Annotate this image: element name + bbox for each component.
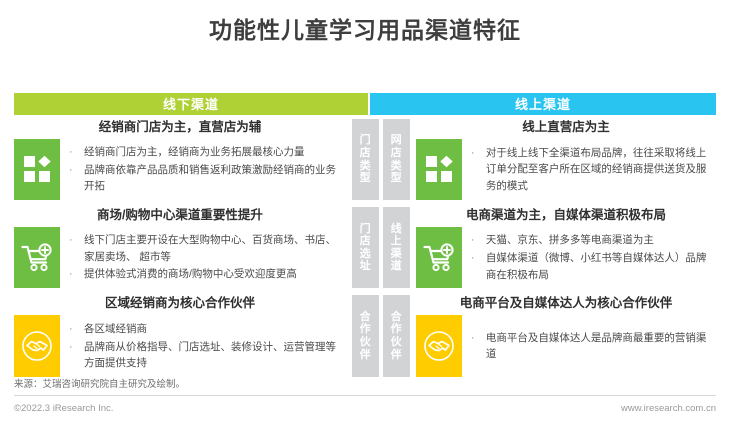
channel-comparison-board: 线下渠道 线上渠道 经销商门店为主，直营店为辅	[14, 93, 716, 367]
panel-body: · 对于线上线下全渠道布局品牌，往往采取将线上订单分配至客户所在区域的经销商提供…	[416, 139, 716, 201]
bullet-dot-icon: ·	[69, 321, 84, 338]
bullet-list: · 线下门店主要开设在大型购物中心、百货商场、书店、家居卖场、 超市等 · 提供…	[60, 227, 346, 289]
list-item: · 自媒体渠道（微博、小红书等自媒体达人）品牌商在积极布局	[471, 250, 710, 283]
bullet-dot-icon: ·	[69, 144, 84, 161]
offline-channel-header: 线下渠道	[14, 93, 368, 115]
vertical-label-text: 网店类型	[390, 134, 402, 185]
panel-body: · 经销商门店为主，经销商为业务拓展最核心力量 · 品牌商依靠产品品质和销售返利…	[14, 139, 346, 201]
panel-body: · 各区域经销商 · 品牌商从价格指导、门店选址、装修设计、运营管理等方面提供支…	[14, 315, 346, 377]
panel-body: · 线下门店主要开设在大型购物中心、百货商场、书店、家居卖场、 超市等 · 提供…	[14, 227, 346, 289]
bullet-list: · 对于线上线下全渠道布局品牌，往往采取将线上订单分配至客户所在区域的经销商提供…	[462, 139, 716, 201]
bullet-text: 电商平台及自媒体达人是品牌商最重要的营销渠道	[486, 330, 710, 363]
vertical-label-text: 合作伙伴	[390, 311, 402, 362]
bullet-list: · 经销商门店为主，经销商为业务拓展最核心力量 · 品牌商依靠产品品质和销售返利…	[60, 139, 346, 201]
bullet-dot-icon: ·	[69, 162, 84, 195]
bullet-dot-icon: ·	[471, 145, 486, 194]
list-item: · 线下门店主要开设在大型购物中心、百货商场、书店、家居卖场、 超市等	[69, 232, 340, 265]
panel-title: 经销商门店为主，直营店为辅	[14, 119, 346, 139]
bullet-text: 天猫、京东、拼多多等电商渠道为主	[486, 232, 710, 249]
bullet-dot-icon: ·	[471, 250, 486, 283]
vertical-label-text: 线上渠道	[390, 223, 402, 274]
comparison-row: 区域经销商为核心合作伙伴 · 各区域经销商	[14, 295, 716, 376]
bullet-text: 经销商门店为主，经销商为业务拓展最核心力量	[84, 144, 340, 161]
four-squares-icon	[14, 139, 60, 201]
bullet-dot-icon: ·	[69, 339, 84, 372]
vertical-label-offline-store-location: 门店选址	[352, 207, 379, 288]
panel-title: 商场/购物中心渠道重要性提升	[14, 207, 346, 227]
vertical-label-text: 合作伙伴	[359, 311, 371, 362]
board-header-row: 线下渠道 线上渠道	[14, 93, 716, 115]
page-title: 功能性儿童学习用品渠道特征	[0, 0, 730, 45]
handshake-icon	[14, 315, 60, 377]
bullet-text: 对于线上线下全渠道布局品牌，往往采取将线上订单分配至客户所在区域的经销商提供送货…	[486, 145, 710, 194]
bullet-dot-icon: ·	[471, 330, 486, 363]
footer-bottom-row: ©2022.3 iResearch Inc. www.iresearch.com…	[14, 396, 716, 414]
online-channel-header: 线上渠道	[370, 93, 716, 115]
offline-store-type-panel: 经销商门店为主，直营店为辅 · 经销商门店为主，经销商为业务拓	[14, 119, 346, 200]
copyright-text: ©2022.3 iResearch Inc.	[14, 403, 113, 414]
footer: 来源：艾瑞咨询研究院自主研究及绘制。 ©2022.3 iResearch Inc…	[14, 376, 716, 414]
vertical-label-online-channel: 线上渠道	[383, 207, 410, 288]
bullet-list: · 各区域经销商 · 品牌商从价格指导、门店选址、装修设计、运营管理等方面提供支…	[60, 315, 346, 377]
vertical-label-offline-partners: 合作伙伴	[352, 295, 379, 376]
bullet-dot-icon: ·	[69, 232, 84, 265]
bullet-list: · 天猫、京东、拼多多等电商渠道为主 · 自媒体渠道（微博、小红书等自媒体达人）…	[462, 227, 716, 289]
online-channel-panel: 电商渠道为主，自媒体渠道积极布局	[416, 207, 716, 288]
panel-title: 电商渠道为主，自媒体渠道积极布局	[416, 207, 716, 227]
vertical-label-online-store-type: 网店类型	[383, 119, 410, 200]
panel-title: 区域经销商为核心合作伙伴	[14, 295, 346, 315]
vertical-label-text: 门店类型	[359, 134, 371, 185]
bullet-dot-icon: ·	[69, 266, 84, 283]
list-item: · 品牌商从价格指导、门店选址、装修设计、运营管理等方面提供支持	[69, 339, 340, 372]
offline-store-location-panel: 商场/购物中心渠道重要性提升	[14, 207, 346, 288]
list-item: · 经销商门店为主，经销商为业务拓展最核心力量	[69, 144, 340, 161]
bullet-text: 提供体验式消费的商场/购物中心受欢迎度更高	[84, 266, 340, 283]
vertical-label-text: 门店选址	[359, 223, 371, 274]
bullet-text: 自媒体渠道（微博、小红书等自媒体达人）品牌商在积极布局	[486, 250, 710, 283]
bullet-text: 品牌商依靠产品品质和销售返利政策激励经销商的业务开拓	[84, 162, 340, 195]
website-link[interactable]: www.iresearch.com.cn	[621, 403, 716, 414]
comparison-row: 经销商门店为主，直营店为辅 · 经销商门店为主，经销商为业务拓	[14, 119, 716, 200]
list-item: · 天猫、京东、拼多多等电商渠道为主	[471, 232, 710, 249]
panel-body: · 天猫、京东、拼多多等电商渠道为主 · 自媒体渠道（微博、小红书等自媒体达人）…	[416, 227, 716, 289]
shopping-cart-plus-icon	[14, 227, 60, 289]
source-note: 来源：艾瑞咨询研究院自主研究及绘制。	[14, 376, 716, 395]
four-squares-icon	[416, 139, 462, 201]
comparison-grid: 经销商门店为主，直营店为辅 · 经销商门店为主，经销商为业务拓	[14, 119, 716, 377]
list-item: · 电商平台及自媒体达人是品牌商最重要的营销渠道	[471, 330, 710, 363]
panel-title: 电商平台及自媒体达人为核心合作伙伴	[416, 295, 716, 315]
vertical-label-offline-store-type: 门店类型	[352, 119, 379, 200]
bullet-list: · 电商平台及自媒体达人是品牌商最重要的营销渠道	[462, 315, 716, 377]
handshake-icon	[416, 315, 462, 377]
panel-body: · 电商平台及自媒体达人是品牌商最重要的营销渠道	[416, 315, 716, 377]
bullet-text: 品牌商从价格指导、门店选址、装修设计、运营管理等方面提供支持	[84, 339, 340, 372]
vertical-label-online-partners: 合作伙伴	[383, 295, 410, 376]
panel-title: 线上直营店为主	[416, 119, 716, 139]
online-partners-panel: 电商平台及自媒体达人为核心合作伙伴 · 电商平台及自媒体达人是品牌商最重要的营销…	[416, 295, 716, 376]
list-item: · 提供体验式消费的商场/购物中心受欢迎度更高	[69, 266, 340, 283]
bullet-dot-icon: ·	[471, 232, 486, 249]
bullet-text: 线下门店主要开设在大型购物中心、百货商场、书店、家居卖场、 超市等	[84, 232, 340, 265]
online-store-type-panel: 线上直营店为主 · 对于线上线下全渠道布局品牌，往往采取将线上	[416, 119, 716, 200]
shopping-cart-plus-icon	[416, 227, 462, 289]
bullet-text: 各区域经销商	[84, 321, 340, 338]
comparison-row: 商场/购物中心渠道重要性提升	[14, 207, 716, 288]
list-item: · 对于线上线下全渠道布局品牌，往往采取将线上订单分配至客户所在区域的经销商提供…	[471, 145, 710, 194]
list-item: · 各区域经销商	[69, 321, 340, 338]
offline-partners-panel: 区域经销商为核心合作伙伴 · 各区域经销商	[14, 295, 346, 376]
list-item: · 品牌商依靠产品品质和销售返利政策激励经销商的业务开拓	[69, 162, 340, 195]
